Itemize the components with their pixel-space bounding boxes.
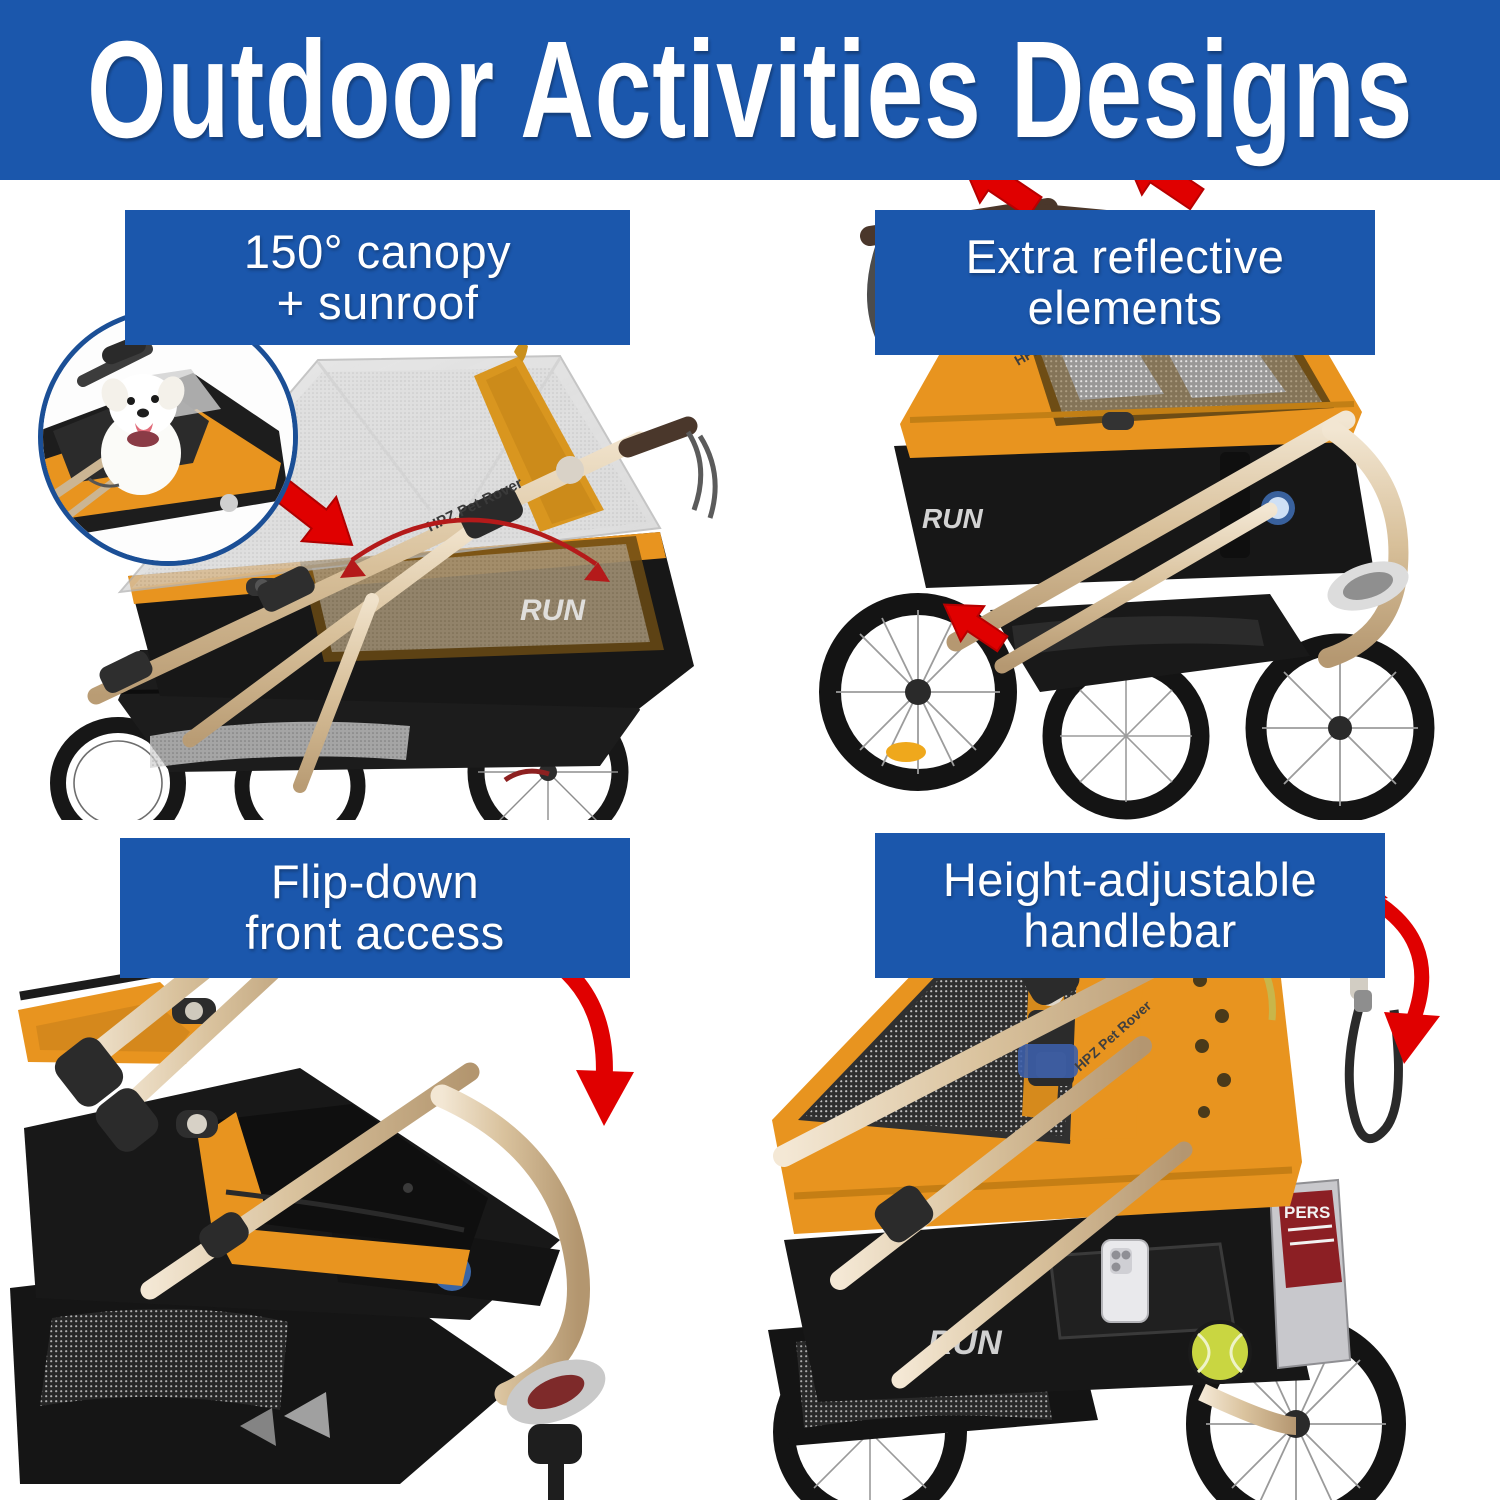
caption-reflective-line1: Extra reflective <box>966 232 1285 283</box>
caption-handlebar: Height-adjustable handlebar <box>875 833 1385 978</box>
dog-in-carrier-illustration <box>43 313 293 561</box>
caption-flipdown: Flip-down front access <box>120 838 630 978</box>
page-title: Outdoor Activities Designs <box>87 21 1413 159</box>
panel-flipdown: Flip-down front access <box>0 820 750 1500</box>
caption-reflective-line2: elements <box>1028 283 1223 334</box>
magazine-title: PERS <box>1284 1203 1330 1222</box>
caption-canopy-line1: 150° canopy <box>244 227 511 278</box>
panel-reflective: RUN <box>750 180 1500 840</box>
caption-flipdown-line2: front access <box>245 908 504 959</box>
tennis-ball-icon <box>1190 1322 1250 1382</box>
leash-icon <box>1349 990 1398 1139</box>
dog-inset-photo <box>38 308 298 566</box>
caption-handlebar-line1: Height-adjustable <box>943 855 1317 906</box>
magazine-in-pocket: PERS <box>1270 1180 1350 1368</box>
panel-canopy: RUN <box>0 180 750 840</box>
phone-in-pocket <box>1102 1240 1148 1322</box>
wheel-reflector <box>886 742 926 762</box>
caption-reflective: Extra reflective elements <box>875 210 1375 355</box>
model-badge-run: RUN <box>520 594 586 627</box>
caption-flipdown-line1: Flip-down <box>271 857 479 908</box>
panel-handlebar: PERS RUN <box>750 820 1500 1500</box>
header-banner: Outdoor Activities Designs <box>0 0 1500 180</box>
caption-canopy-line2: + sunroof <box>277 278 479 329</box>
caption-canopy: 150° canopy + sunroof <box>125 210 630 345</box>
caption-handlebar-line2: handlebar <box>1023 906 1237 957</box>
model-badge-run: RUN <box>922 503 983 534</box>
